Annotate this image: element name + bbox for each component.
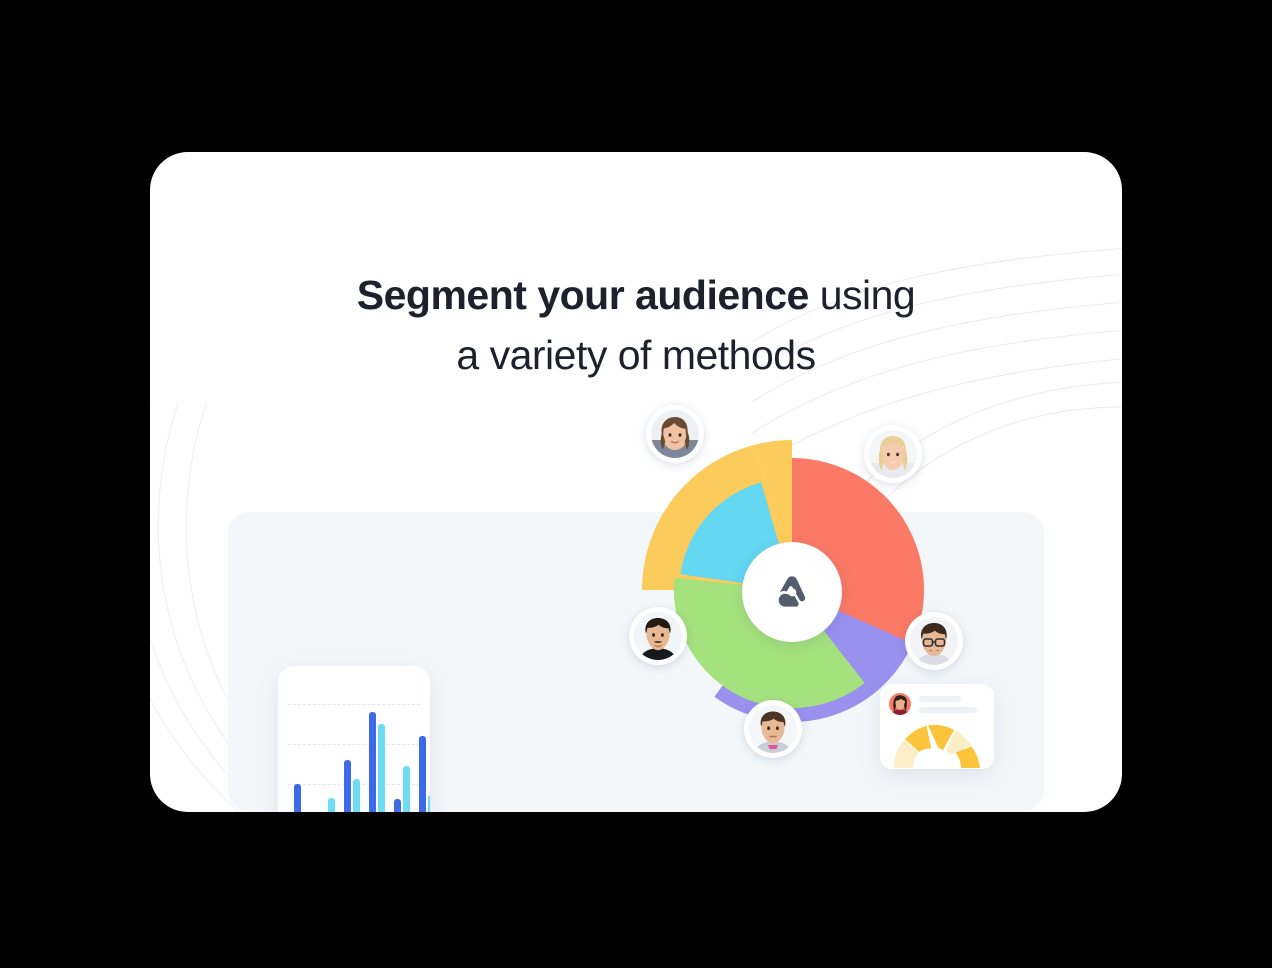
gridline	[288, 704, 420, 706]
brand-a-logo-icon	[769, 569, 815, 615]
segment-avatar-yellow[interactable]	[646, 405, 704, 463]
avatar-man-glasses	[910, 617, 958, 665]
bar-series-b	[428, 795, 430, 812]
gauge-card[interactable]	[880, 684, 994, 769]
bar-series-b	[328, 798, 335, 812]
gauge-arc	[893, 722, 981, 768]
headline-regular: using	[809, 272, 915, 318]
avatar-woman-blonde	[869, 430, 917, 478]
skeleton-line	[919, 707, 977, 713]
headline-bold: Segment your audience	[357, 272, 809, 318]
headline-line-2: a variety of methods	[150, 325, 1122, 385]
bar-series-a	[294, 784, 301, 812]
bar-series-b	[353, 779, 360, 812]
segment-avatar-purple[interactable]	[905, 612, 963, 670]
screenshot-canvas: Segment your audience using a variety of…	[0, 0, 1272, 968]
gridline	[288, 744, 420, 746]
bar-series-b	[378, 724, 385, 812]
page-title: Segment your audience using a variety of…	[150, 265, 1122, 385]
gauge-placeholder-lines	[919, 696, 977, 713]
avatar-woman-brown-hair	[651, 410, 699, 458]
bar-chart-card[interactable]	[278, 666, 430, 812]
bar-series-a	[344, 760, 351, 812]
avatar-man-gray-shirt	[749, 705, 797, 753]
avatar-woman-dark-hair	[889, 693, 911, 715]
hero-card: Segment your audience using a variety of…	[150, 152, 1122, 812]
bar-series-a	[419, 736, 426, 812]
segment-avatar-cyan[interactable]	[629, 607, 687, 665]
gauge-card-header	[889, 693, 977, 715]
skeleton-line	[919, 696, 961, 702]
bar-chart-plot	[278, 666, 430, 812]
segment-avatar-coral[interactable]	[864, 425, 922, 483]
bar-series-b	[403, 766, 410, 812]
bar-series-a	[369, 712, 376, 812]
wheel-center-hub[interactable]	[742, 542, 842, 642]
headline-line-1: Segment your audience using	[150, 265, 1122, 325]
avatar-man-black-shirt	[634, 612, 682, 660]
bar-series-a	[394, 799, 401, 812]
segment-avatar-green[interactable]	[744, 700, 802, 758]
